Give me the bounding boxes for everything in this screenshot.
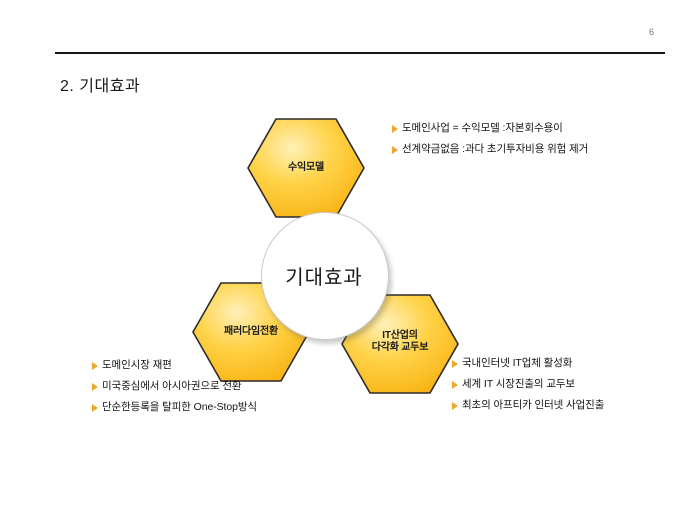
- bullet-item: 단순한등록을 탈피한 One-Stop방식: [92, 397, 257, 418]
- bullet-group-bottom-right: 국내인터넷 IT업체 활성화 세계 IT 시장진출의 교두보 최초의 아프티카 …: [452, 353, 604, 416]
- bullet-text: 국내인터넷 IT업체 활성화: [462, 353, 572, 374]
- page-title: 2. 기대효과: [60, 72, 140, 96]
- bullet-group-bottom-left: 도메인시장 재편 미국중심에서 아시아권으로 전환 단순한등록을 탈피한 One…: [92, 355, 257, 418]
- triangle-bullet-icon: [92, 362, 98, 370]
- page-number: 6: [649, 27, 654, 37]
- bullet-text: 단순한등록을 탈피한 One-Stop방식: [102, 397, 257, 418]
- center-circle[interactable]: [261, 212, 389, 340]
- bullet-item: 도메인사업 = 수익모델 :자본회수용이: [392, 118, 588, 139]
- bullet-text: 도메인사업 = 수익모델 :자본회수용이: [402, 118, 563, 139]
- hexagon-shape: [246, 116, 366, 220]
- triangle-bullet-icon: [92, 404, 98, 412]
- bullet-item: 미국중심에서 아시아권으로 전환: [92, 376, 257, 397]
- triangle-bullet-icon: [92, 383, 98, 391]
- bullet-item: 국내인터넷 IT업체 활성화: [452, 353, 604, 374]
- triangle-bullet-icon: [392, 125, 398, 133]
- triangle-bullet-icon: [392, 146, 398, 154]
- bullet-item: 최초의 아프티카 인터넷 사업진출: [452, 395, 604, 416]
- hexagon-revenue-model[interactable]: 수익모델: [246, 116, 366, 220]
- bullet-text: 선계약금없음 :과다 초기투자비용 위험 제거: [402, 139, 588, 160]
- bullet-text: 미국중심에서 아시아권으로 전환: [102, 376, 241, 397]
- bullet-item: 세계 IT 시장진출의 교두보: [452, 374, 604, 395]
- bullet-group-top-right: 도메인사업 = 수익모델 :자본회수용이 선계약금없음 :과다 초기투자비용 위…: [392, 118, 588, 160]
- bullet-item: 도메인시장 재편: [92, 355, 257, 376]
- triangle-bullet-icon: [452, 402, 458, 410]
- slide-canvas: 6 2. 기대효과 수익모델: [0, 0, 680, 510]
- triangle-bullet-icon: [452, 381, 458, 389]
- bullet-text: 최초의 아프티카 인터넷 사업진출: [462, 395, 604, 416]
- header-divider: [55, 52, 665, 54]
- bullet-text: 세계 IT 시장진출의 교두보: [462, 374, 575, 395]
- triangle-bullet-icon: [452, 360, 458, 368]
- bullet-text: 도메인시장 재편: [102, 355, 172, 376]
- bullet-item: 선계약금없음 :과다 초기투자비용 위험 제거: [392, 139, 588, 160]
